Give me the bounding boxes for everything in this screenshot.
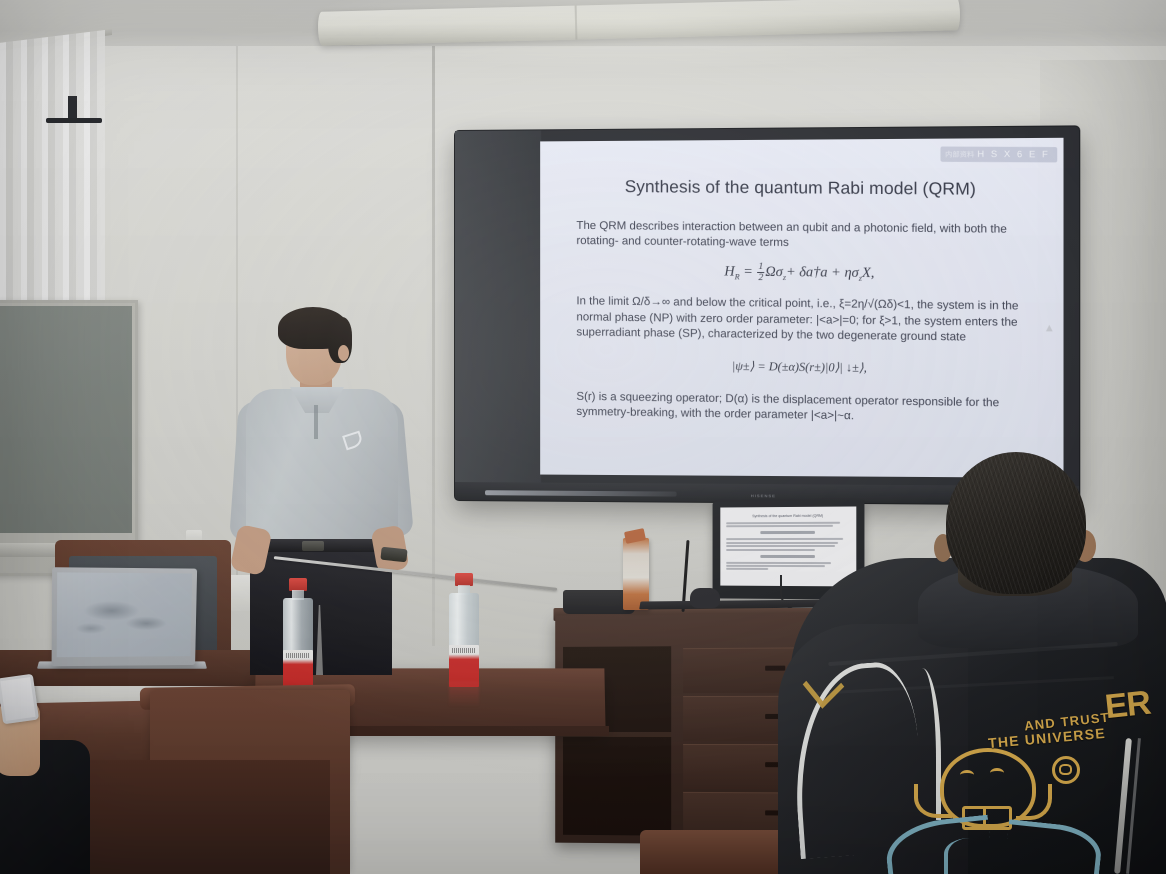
display-screen: 内部资料H S X 6 E F Synthesis of the quantum… bbox=[540, 138, 1063, 478]
presenter-belt-buckle bbox=[302, 541, 324, 551]
slide-paragraph-2: In the limit Ω/δ→∞ and below the critica… bbox=[562, 294, 1040, 346]
eq1-tail: + δa†a + ησ bbox=[786, 265, 859, 281]
presenter-shirt-placket bbox=[314, 405, 318, 439]
water-bottle[interactable] bbox=[283, 578, 313, 686]
chalkboard bbox=[0, 300, 138, 576]
jacket-badge-icon bbox=[1052, 756, 1080, 784]
slide-equation-2: |ψ±⟩ = D(±α)S(r±)|0⟩| ↓±⟩, bbox=[562, 356, 1040, 378]
eq1-fraction: 1 2 bbox=[757, 262, 764, 283]
display-left-bezel bbox=[455, 130, 541, 483]
bottle-body bbox=[449, 593, 479, 681]
display-light-strip bbox=[485, 490, 677, 496]
laptop-screen bbox=[57, 572, 193, 657]
jacket-graphic-gold-eye bbox=[960, 770, 974, 780]
bottle-body bbox=[283, 598, 313, 686]
eq1-lhs: H bbox=[724, 265, 734, 280]
chalkboard-surface bbox=[0, 306, 132, 533]
laptop[interactable] bbox=[52, 567, 198, 666]
eq1-numerator: 1 bbox=[757, 262, 764, 273]
attendee-hair-texture bbox=[946, 452, 1086, 594]
slide-paragraph-1: The QRM describes interaction between an… bbox=[562, 219, 1040, 254]
slide-paragraph-3: S(r) is a squeezing operator; D(α) is th… bbox=[562, 389, 1040, 427]
eq1-equals: = bbox=[743, 265, 753, 280]
bottle-reflection bbox=[449, 681, 479, 707]
eq1-denominator: 2 bbox=[757, 273, 764, 283]
slide-watermark: 内部资料H S X 6 E F bbox=[941, 146, 1057, 162]
water-bottle[interactable] bbox=[449, 573, 479, 681]
monitor-base bbox=[46, 118, 102, 123]
mouse[interactable] bbox=[690, 588, 720, 608]
jacket-graphic-blue-swirl bbox=[944, 838, 1008, 874]
laptop-screen-content bbox=[57, 572, 193, 657]
jacket-graphic-gold-eye bbox=[990, 768, 1004, 778]
display-brand-logo-icon: ▲ bbox=[1043, 323, 1057, 334]
pointer-grip[interactable] bbox=[380, 547, 407, 563]
eq1-end: X, bbox=[862, 266, 874, 281]
smartphone[interactable] bbox=[0, 674, 39, 725]
foreground-attendee: ER AND TRUST THE UNIVERSE bbox=[768, 438, 1166, 874]
presenter bbox=[228, 305, 438, 675]
monitor-text-line bbox=[726, 568, 768, 570]
eq1-sub: R bbox=[735, 273, 740, 282]
slide-content: 内部资料H S X 6 E F Synthesis of the quantum… bbox=[540, 138, 1063, 478]
window-curtain bbox=[0, 30, 105, 333]
slide-equation-1: HR = 1 2 Ωσz+ δa†a + ησzX, bbox=[562, 260, 1040, 286]
presenter-ear bbox=[338, 345, 349, 361]
slide-title: Synthesis of the quantum Rabi model (QRM… bbox=[562, 177, 1040, 201]
watermark-code: H S X 6 E F bbox=[977, 149, 1050, 160]
eq1-omega-sigma: Ωσ bbox=[765, 265, 782, 280]
watermark-cjk: 内部资料 bbox=[945, 152, 974, 159]
smartphone-screen bbox=[0, 677, 35, 721]
lecture-room-photo: 内部资料H S X 6 E F Synthesis of the quantum… bbox=[0, 0, 1166, 874]
snack-package bbox=[623, 538, 649, 610]
